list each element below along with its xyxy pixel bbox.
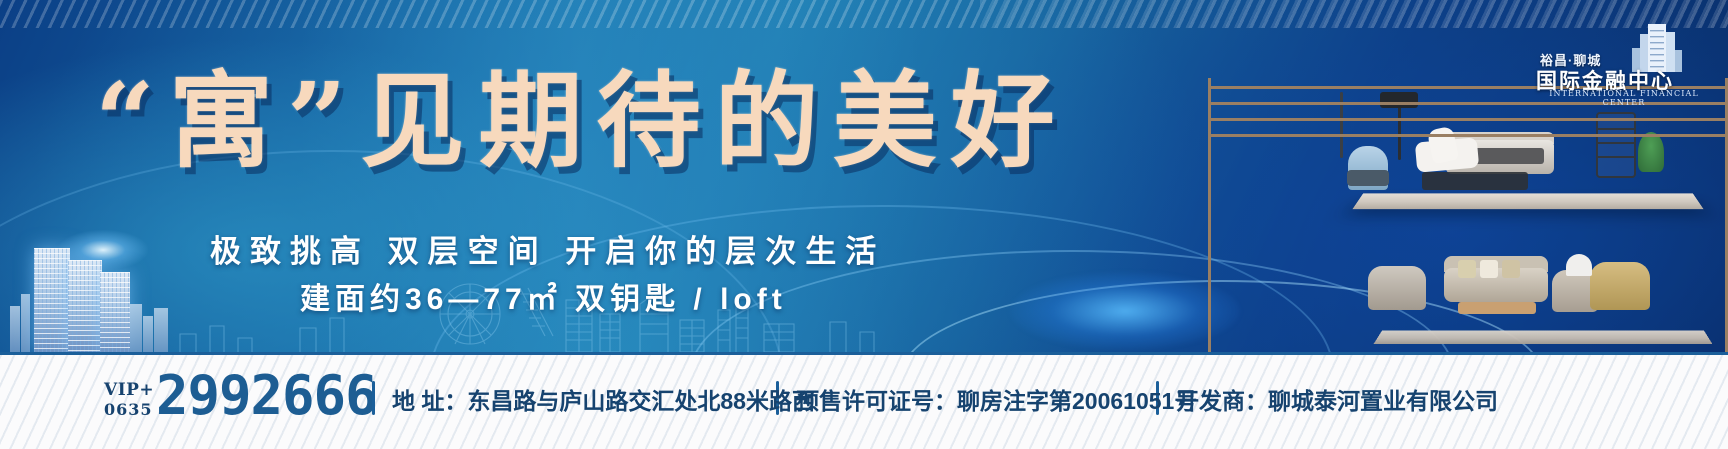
skyline-bar [154,308,168,352]
cushion [1502,260,1520,278]
brand-logo: 裕昌·聊城 国际金融中心 INTERNATIONAL FINANCIAL CEN… [1534,22,1710,100]
cushion [1480,260,1498,278]
potted-plant-icon [1638,132,1664,172]
developer-text: 开发商：聊城泰河置业有限公司 [1176,387,1498,415]
mustard-armchair [1590,262,1650,310]
phone-number[interactable]: 2992666 [156,369,377,423]
dark-rug [1422,172,1528,190]
subtitle-line-1: 极致挑高 双层空间 开启你的层次生活 [210,232,1070,272]
divider-1 [372,381,375,415]
vip-label-group: VIP+ 0635 [104,381,160,419]
vip-label: VIP+ [104,381,160,400]
address-text: 地 址：东昌路与庐山路交汇处北88米路西 [392,387,815,415]
table-lamp-icon [1566,254,1592,276]
area-code: 0635 [104,400,160,419]
presale-license-text: 预售许可证号：聊房注字第20061051号 [796,387,1197,415]
page-title: “寓”见期待的美好 [95,62,1215,182]
subtitle-line-2: 建面约36—77㎡ 双钥匙 / loft [300,280,980,320]
upper-floor-slab [1352,193,1703,209]
loft-interior-scene [1208,78,1728,352]
tower-block-c [100,272,130,352]
ladder-icon [1208,78,1230,152]
skyline-bar [143,316,153,352]
logo-brand-english: INTERNATIONAL FINANCIAL CENTER [1538,89,1710,107]
grey-armchair [1368,266,1426,310]
light-glow-blob [1010,272,1240,350]
bookshelf-icon [1596,112,1636,178]
footer-info-bar: VIP+ 0635 2992666 地 址：东昌路与庐山路交汇处北88米路西 预… [0,352,1728,449]
highrise-building-icon [10,238,180,352]
skyline-bar [130,304,142,352]
coffee-table [1458,302,1536,314]
property-advertisement-banner: “寓”见期待的美好 极致挑高 双层空间 开启你的层次生活 建面约36—77㎡ 双… [0,0,1728,449]
tower-block-b [68,260,102,352]
blue-armchair-base [1347,170,1389,186]
lower-floor-slab [1374,330,1713,344]
cushion [1458,260,1476,278]
floor-lamp-shade [1380,92,1418,108]
tower-block-a [34,248,70,352]
skyline-bar [21,294,30,352]
skyline-bar [10,306,20,352]
hero-panel: “寓”见期待的美好 极致挑高 双层空间 开启你的层次生活 建面约36—77㎡ 双… [0,0,1728,352]
